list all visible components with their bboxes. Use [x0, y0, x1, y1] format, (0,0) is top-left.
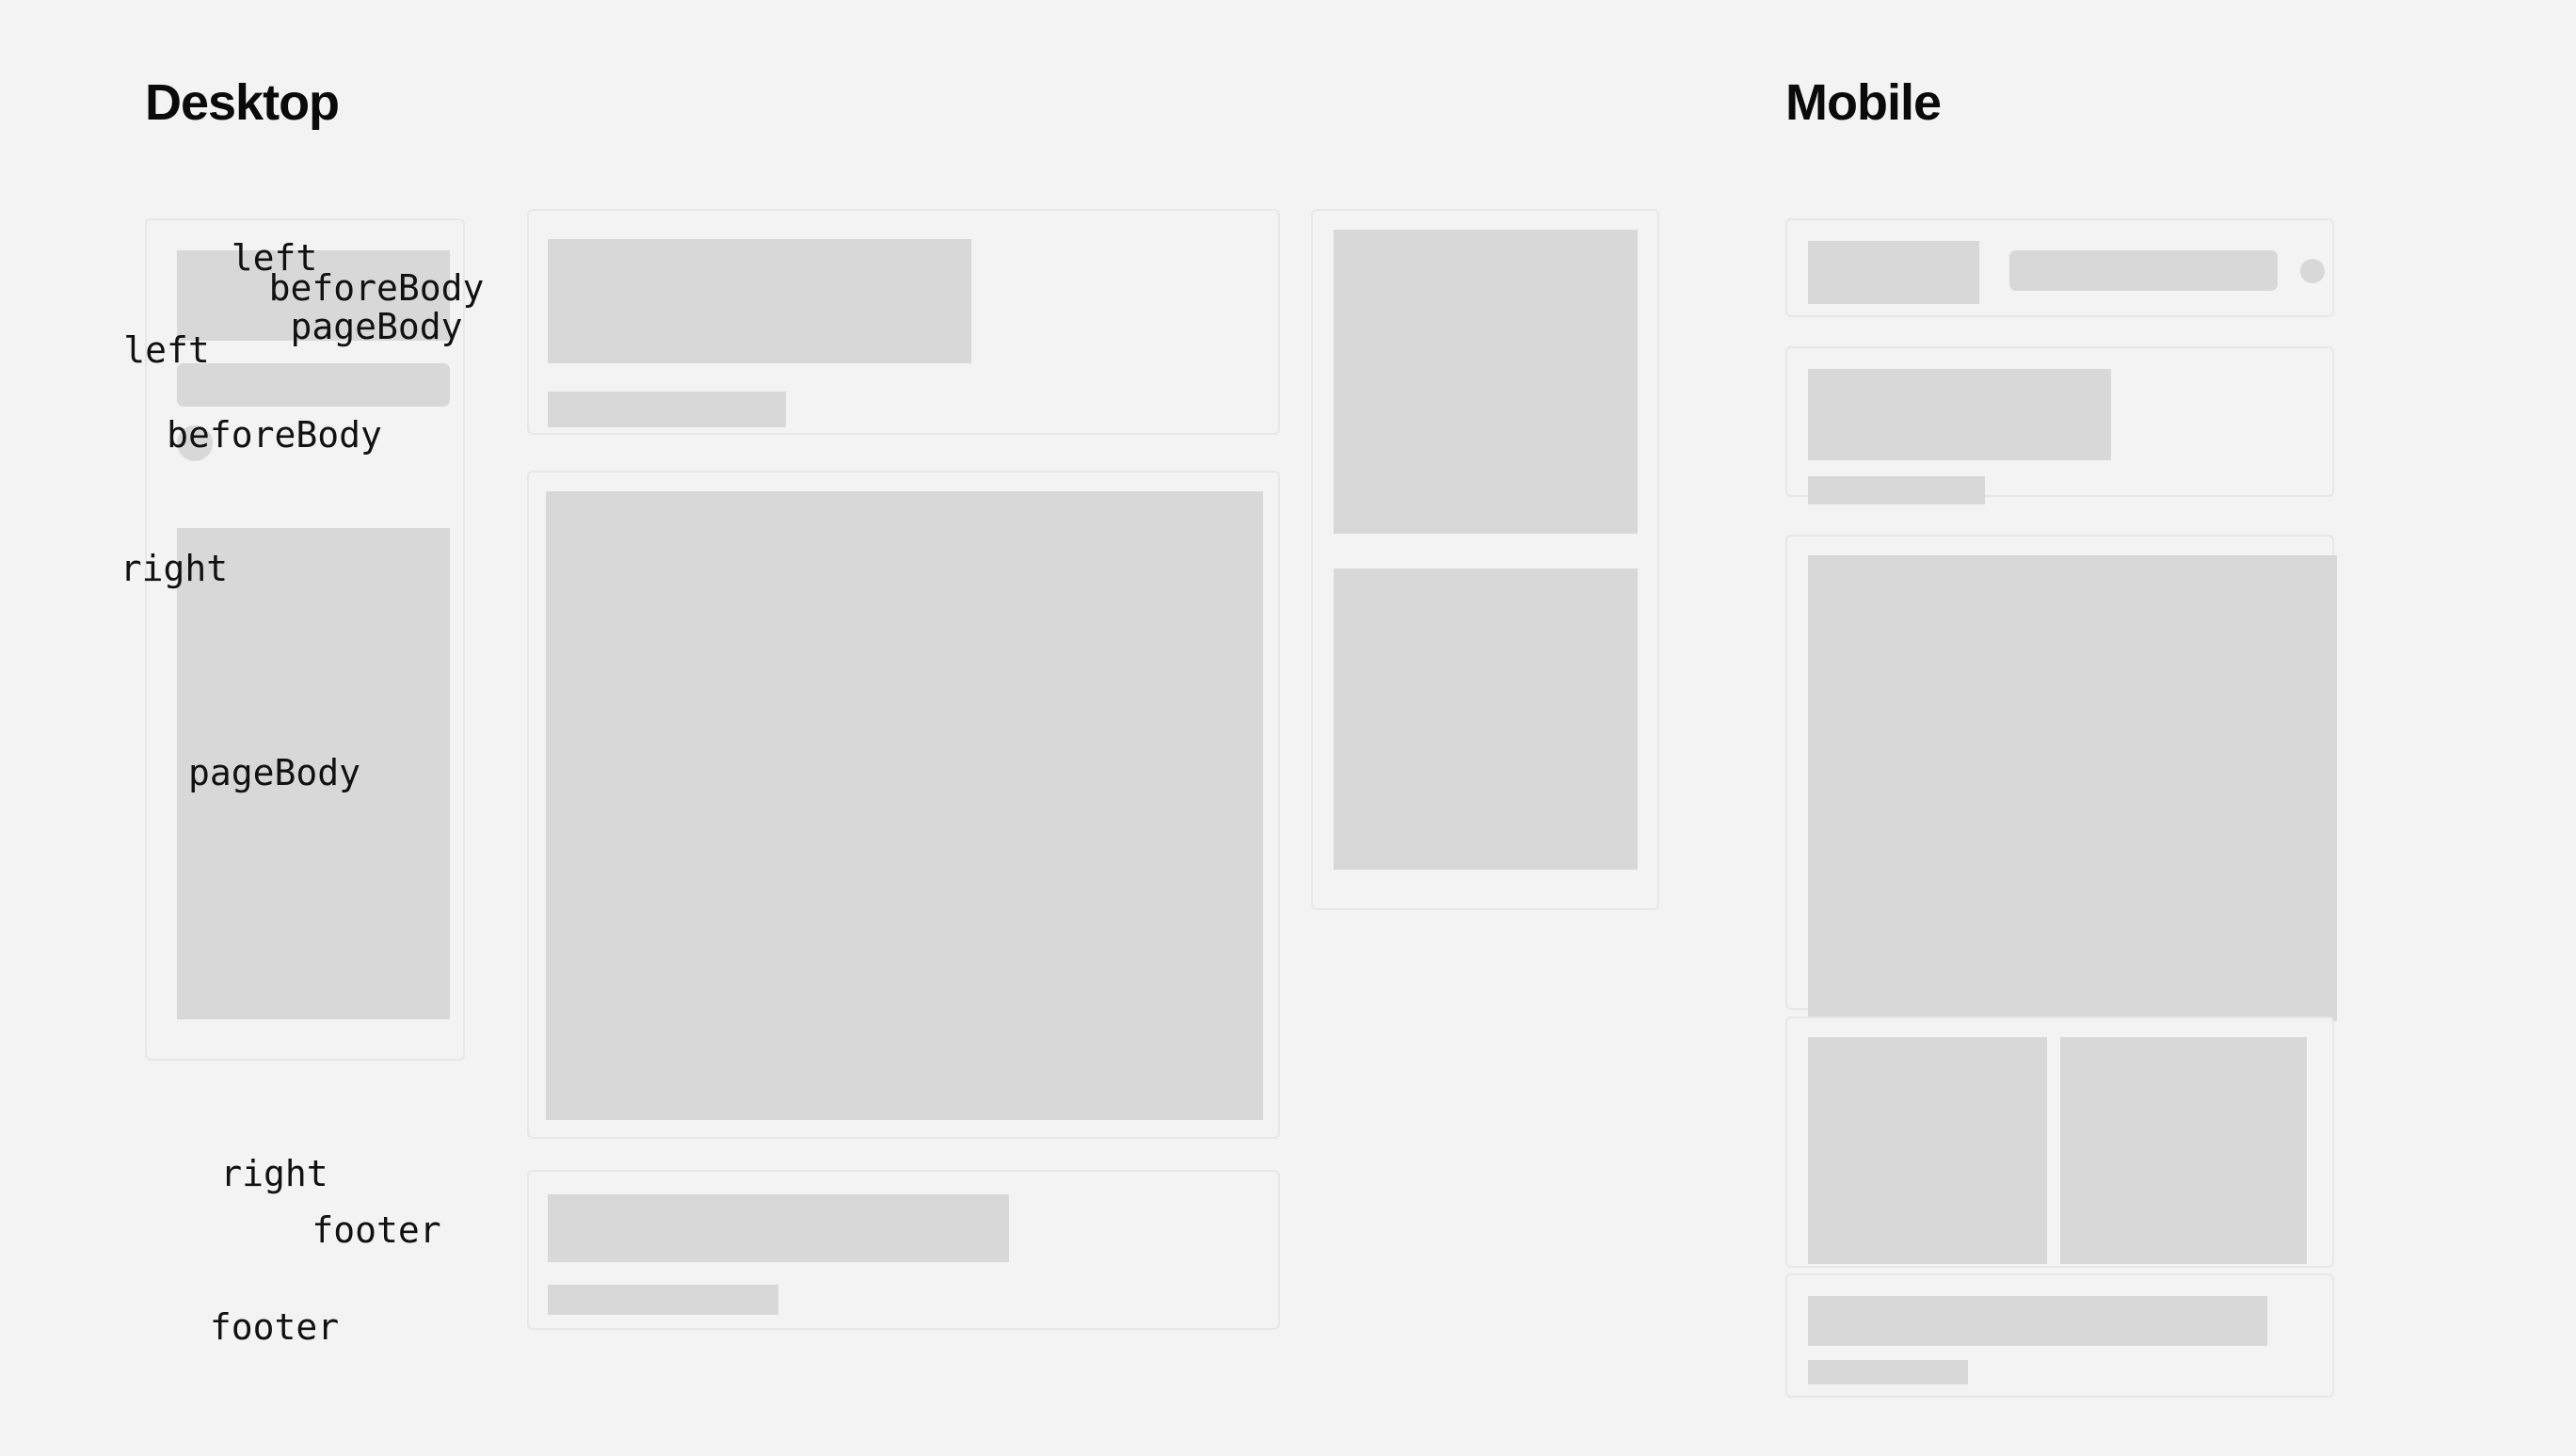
placeholder-bar-rounded — [2009, 250, 2278, 291]
placeholder-bar-rounded — [177, 363, 450, 407]
placeholder-block-wide — [548, 1194, 1009, 1262]
mobile-section-title: Mobile — [1785, 77, 1941, 128]
placeholder-block-wide — [1808, 1296, 2267, 1346]
placeholder-block-tall — [177, 250, 450, 341]
placeholder-block-large — [1808, 555, 2337, 1021]
placeholder-block-lower — [1334, 568, 1638, 870]
placeholder-bar-short — [548, 392, 786, 427]
placeholder-bar-short — [548, 1285, 778, 1315]
placeholder-block-small — [1808, 241, 1979, 304]
placeholder-block-wide — [548, 239, 971, 363]
wireframe-canvas: Desktop left beforeBody pageBody footer … — [0, 0, 2576, 1456]
placeholder-dot-circle — [177, 425, 213, 461]
mobile-footer-region-card[interactable] — [1785, 1273, 2334, 1398]
placeholder-block-left — [1808, 1037, 2047, 1264]
mobile-pagebody-region-card[interactable] — [1785, 535, 2334, 1010]
desktop-right-region-card[interactable] — [1311, 209, 1659, 910]
desktop-left-region-card[interactable] — [145, 218, 465, 1061]
placeholder-bar-short — [1808, 476, 1985, 504]
placeholder-dot-circle — [2300, 259, 2325, 283]
mobile-beforebody-region-card[interactable] — [1785, 346, 2334, 497]
placeholder-block-right — [2060, 1037, 2307, 1264]
mobile-right-region-label: right — [0, 1156, 549, 1192]
placeholder-block-upper — [1334, 230, 1638, 534]
mobile-left-region-card[interactable] — [1785, 218, 2334, 317]
desktop-section-title: Desktop — [145, 77, 339, 128]
placeholder-panel-main — [177, 528, 450, 1019]
placeholder-block-large — [546, 491, 1263, 1120]
desktop-beforebody-region-card[interactable] — [527, 209, 1280, 435]
mobile-right-region-card[interactable] — [1785, 1016, 2334, 1268]
desktop-footer-region-card[interactable] — [527, 1170, 1280, 1330]
mobile-footer-region-label: footer — [0, 1309, 549, 1345]
placeholder-bar-short — [1808, 1360, 1968, 1384]
desktop-pagebody-region-card[interactable] — [527, 471, 1280, 1139]
placeholder-block-wide — [1808, 369, 2111, 460]
